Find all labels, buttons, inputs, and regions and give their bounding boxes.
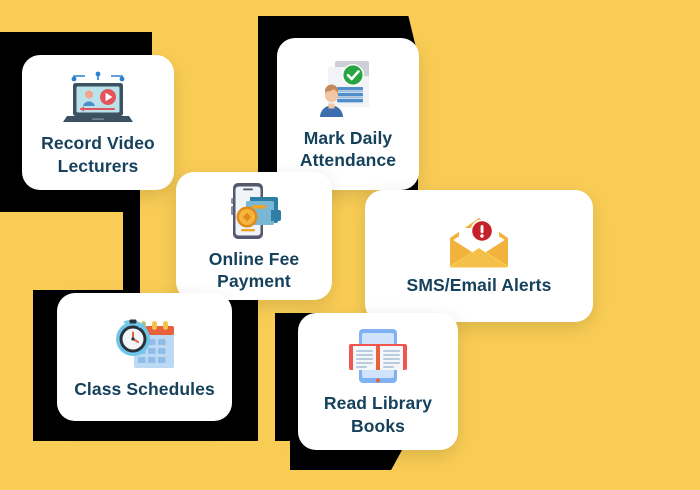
- yellow-notch-bottom-strip: [0, 441, 290, 490]
- feature-card-record-video-lecturers[interactable]: Record Video Lecturers: [22, 55, 174, 190]
- yellow-notch-bottom-left-corner: [0, 290, 33, 490]
- feature-card-class-schedules[interactable]: Class Schedules: [57, 293, 232, 421]
- calendar-clock-icon: [112, 314, 178, 372]
- attendance-document-check-icon: [315, 57, 381, 121]
- mobile-wallet-coin-icon: [224, 180, 284, 242]
- feature-card-label: SMS/Email Alerts: [399, 274, 560, 296]
- feature-card-label: Class Schedules: [66, 378, 223, 400]
- yellow-notch-left: [0, 212, 123, 290]
- feature-card-label: Online Fee Payment: [201, 248, 307, 292]
- feature-card-sms-email-alerts[interactable]: SMS/Email Alerts: [365, 190, 593, 322]
- laptop-video-icon: [61, 68, 135, 126]
- feature-card-mark-daily-attendance[interactable]: Mark Daily Attendance: [277, 38, 419, 190]
- feature-card-label: Record Video Lecturers: [33, 132, 163, 176]
- feature-card-label: Mark Daily Attendance: [292, 127, 404, 171]
- feature-card-read-library-books[interactable]: Read Library Books: [298, 313, 458, 450]
- envelope-alert-icon: [448, 216, 510, 268]
- feature-card-label: Read Library Books: [316, 392, 440, 436]
- feature-card-online-fee-payment[interactable]: Online Fee Payment: [176, 172, 332, 300]
- feature-grid-canvas: Record Video Lecturers: [0, 0, 700, 490]
- open-book-tablet-icon: [349, 326, 407, 386]
